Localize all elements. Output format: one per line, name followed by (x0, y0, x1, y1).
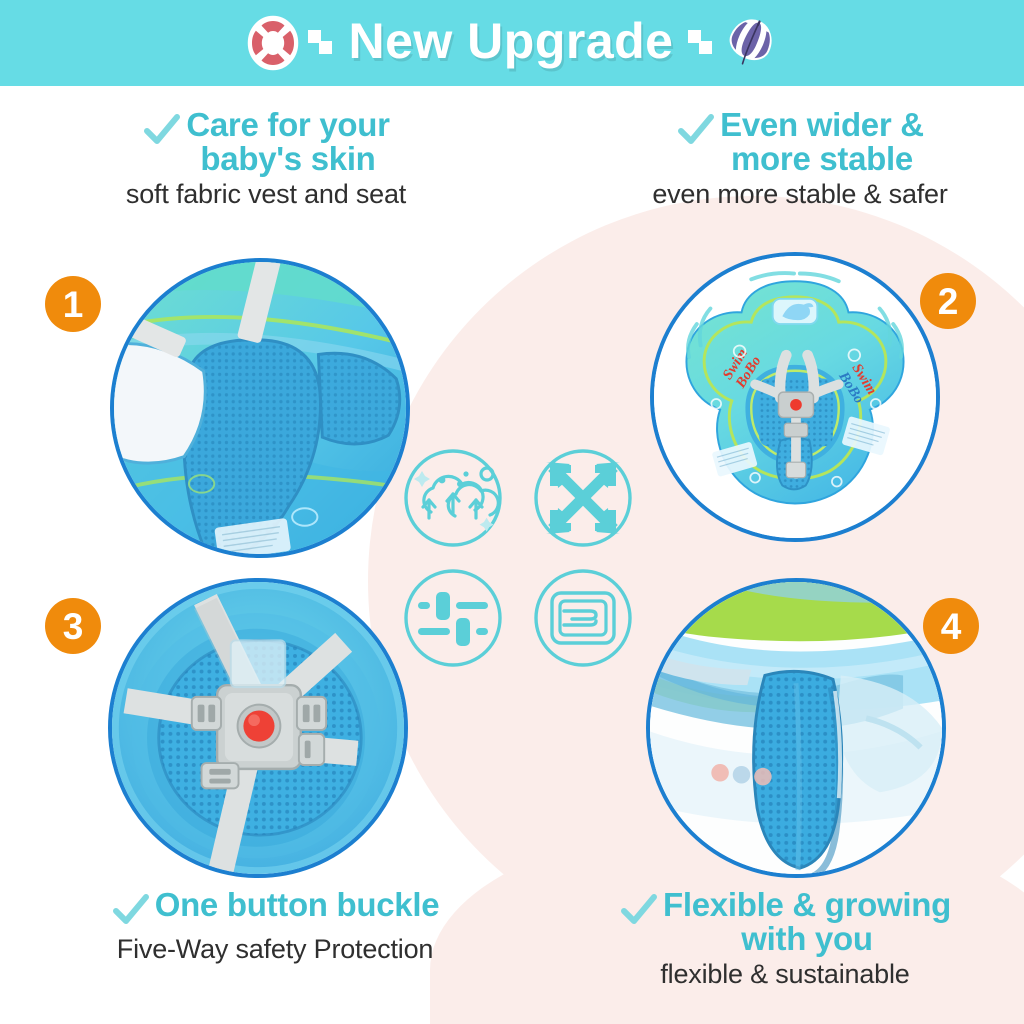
feature-3-number-badge: 3 (45, 598, 101, 654)
adjustable-sliders-icon (398, 566, 508, 670)
feature-1-number-badge: 1 (45, 276, 101, 332)
feature-2-photo: Swim BoBo Swim BoBo (650, 252, 940, 542)
feature-4-heading-line1: Flexible & growing (663, 888, 951, 922)
feature-3-photo (108, 578, 408, 878)
banner-title: New Upgrade (344, 12, 677, 74)
feature-4-heading-line2: with you (663, 922, 951, 956)
soft-bubbles-breathable-icon (398, 446, 508, 550)
check-mark-icon (619, 890, 659, 930)
feature-2-subtext: even more stable & safer (600, 180, 1000, 210)
check-mark-icon (142, 110, 182, 150)
feature-1-text-block: Care for your baby's skin soft fabric ve… (66, 108, 466, 210)
feature-3-subtext: Five-Way safety Protection (60, 935, 490, 965)
feature-4-subtext: flexible & sustainable (570, 960, 1000, 990)
buckle-layers-icon (528, 566, 638, 670)
life-ring-icon (246, 15, 300, 71)
feature-1-heading-line1: Care for your (186, 108, 389, 142)
feature-2-text-block: Even wider & more stable even more stabl… (600, 108, 1000, 210)
feature-3-text-block: One button buckle Five-Way safety Protec… (60, 888, 490, 965)
feature-4-number-badge: 4 (923, 598, 979, 654)
pixel-squares-decoration-left (308, 30, 334, 56)
pixel-squares-decoration-right (688, 30, 714, 56)
check-mark-icon (111, 890, 151, 930)
header-banner: New Upgrade (0, 0, 1024, 86)
feature-2-heading-line1: Even wider & (720, 108, 924, 142)
feature-1-subtext: soft fabric vest and seat (66, 180, 466, 210)
check-mark-icon (676, 110, 716, 150)
four-way-expand-arrows-icon (528, 446, 638, 550)
feature-4-text-block: Flexible & growing with you flexible & s… (570, 888, 1000, 990)
feature-1-photo (110, 258, 410, 558)
beach-parasol-icon (722, 15, 778, 71)
feature-4-photo (646, 578, 946, 878)
feature-2-number-badge: 2 (920, 273, 976, 329)
feature-3-heading-line1: One button buckle (155, 888, 440, 922)
feature-1-heading-line2: baby's skin (186, 142, 389, 176)
feature-2-heading-line2: more stable (720, 142, 924, 176)
center-feature-icon-cluster (398, 446, 638, 678)
infographic-page: New Upgrade Care for (0, 0, 1024, 1024)
